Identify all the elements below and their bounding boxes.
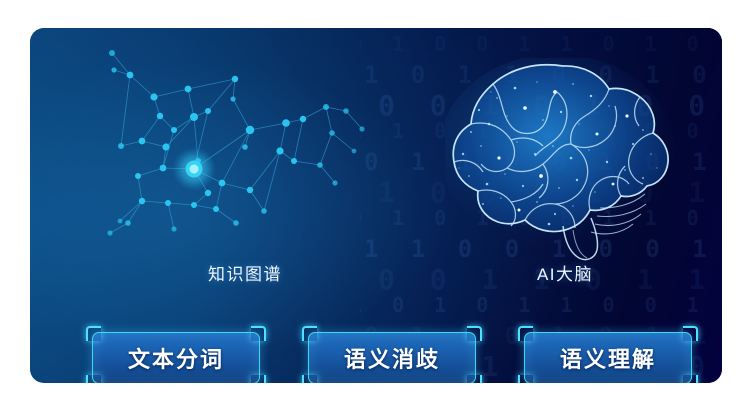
corner-bracket-bottom-left-icon bbox=[86, 375, 101, 383]
knowledge-graph-illustration bbox=[90, 33, 375, 258]
brain-icon bbox=[445, 58, 690, 263]
tag-button-semantic-understanding[interactable]: 语义理解 bbox=[524, 332, 692, 383]
caption-knowledge-graph: 知识图谱 bbox=[150, 260, 340, 285]
tag-button-text-segmentation[interactable]: 文本分词 bbox=[92, 332, 260, 383]
capability-tag-row: 文本分词 语义消歧 语义理解 bbox=[92, 328, 692, 383]
corner-bracket-top-left-icon bbox=[518, 326, 533, 341]
tag-label: 文本分词 bbox=[128, 342, 224, 374]
corner-bracket-bottom-left-icon bbox=[302, 375, 317, 383]
network-graph-icon bbox=[90, 33, 375, 258]
corner-bracket-top-left-icon bbox=[302, 326, 317, 341]
hero-panel: 0 1 0 0 1 1 0 1 0 01 0 1 1 0 0 1 0 1 10 … bbox=[30, 28, 722, 383]
ai-brain-illustration bbox=[445, 58, 690, 263]
corner-bracket-bottom-right-icon bbox=[683, 375, 698, 383]
corner-bracket-bottom-right-icon bbox=[251, 375, 266, 383]
corner-bracket-top-right-icon bbox=[467, 326, 482, 341]
caption-ai-brain: AI大脑 bbox=[470, 260, 660, 285]
binary-row: 0 1 0 0 1 1 0 1 0 0 bbox=[360, 34, 722, 54]
tag-label: 语义消歧 bbox=[344, 342, 440, 374]
binary-row: 1 0 1 0 1 1 0 0 1 1 bbox=[360, 295, 722, 315]
corner-bracket-bottom-left-icon bbox=[518, 375, 533, 383]
corner-bracket-top-right-icon bbox=[251, 326, 266, 341]
tag-label: 语义理解 bbox=[560, 342, 656, 374]
screenshot-root: 0 1 0 0 1 1 0 1 0 01 0 1 1 0 0 1 0 1 10 … bbox=[0, 0, 750, 411]
corner-bracket-bottom-right-icon bbox=[467, 375, 482, 383]
corner-bracket-top-right-icon bbox=[683, 326, 698, 341]
tag-button-semantic-disambiguation[interactable]: 语义消歧 bbox=[308, 332, 476, 383]
corner-bracket-top-left-icon bbox=[86, 326, 101, 341]
